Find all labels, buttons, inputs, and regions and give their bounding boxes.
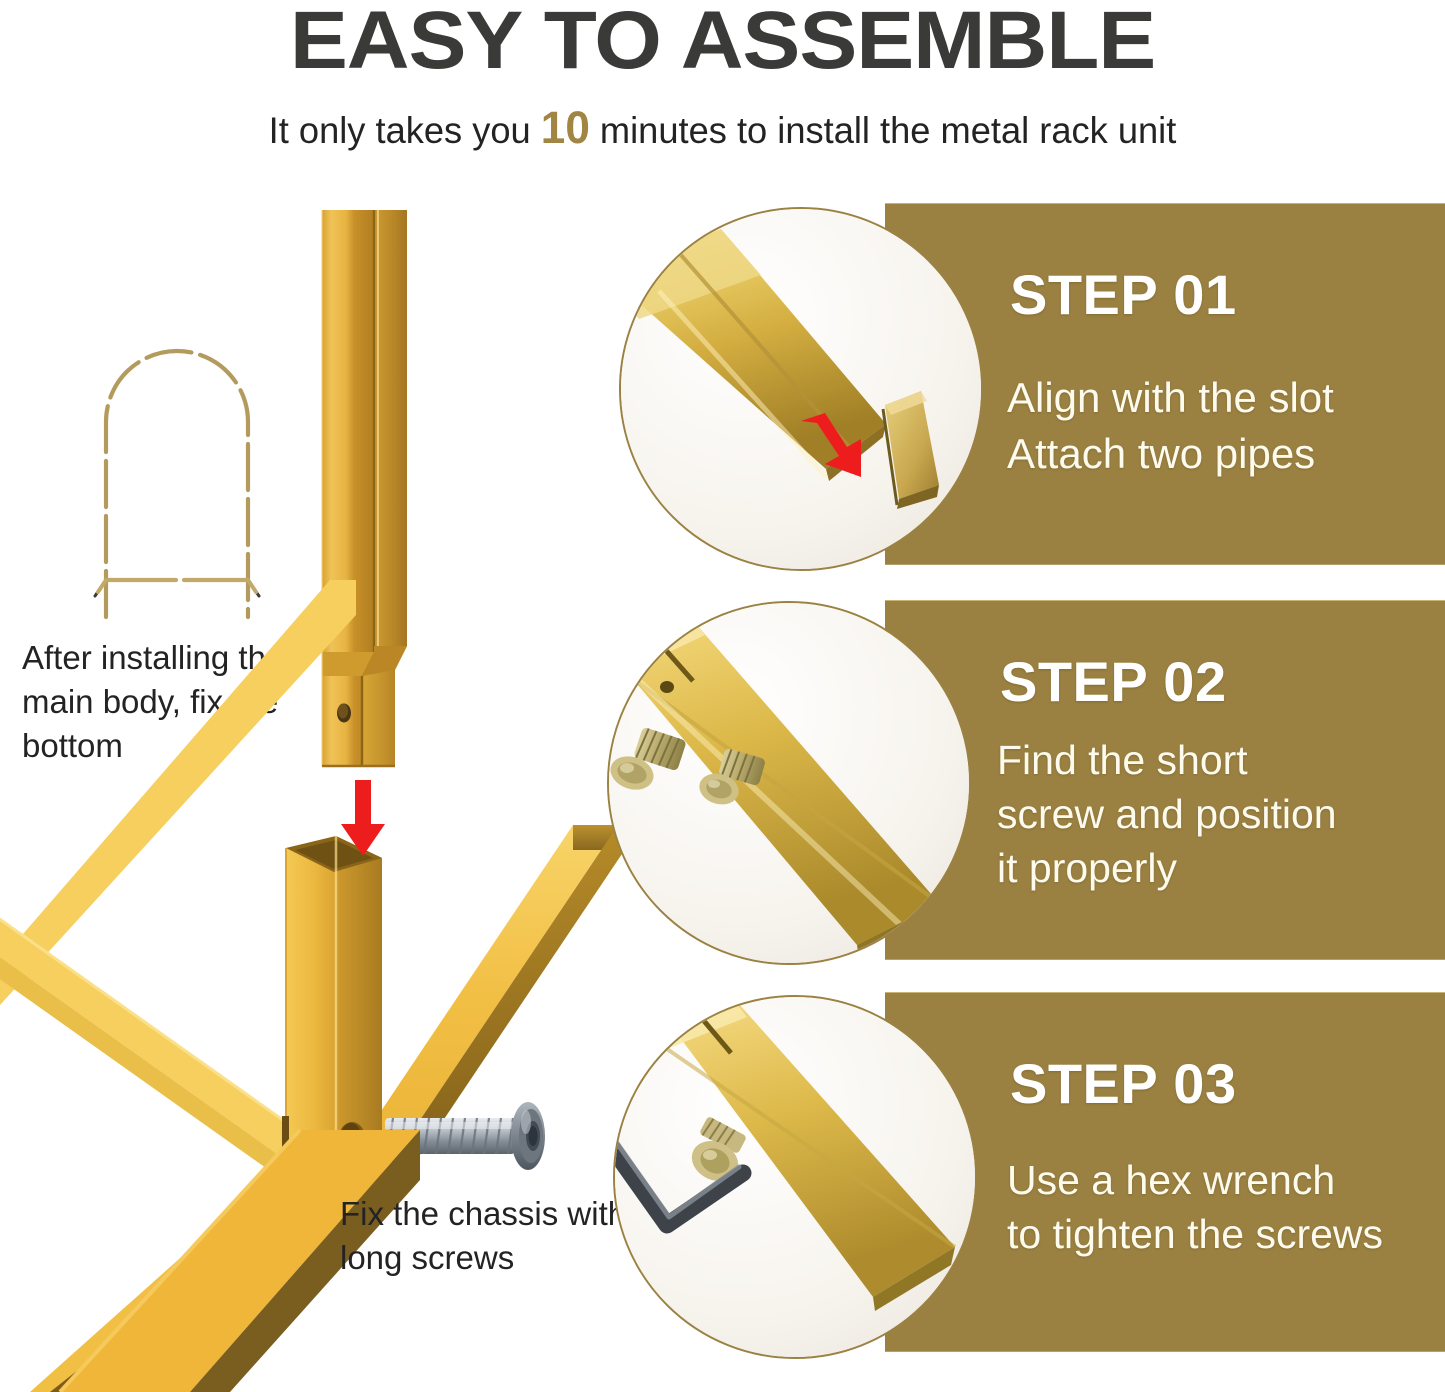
step-1-title: STEP 01 [1010,266,1237,324]
hex-wrench-tightening-screw-photo [615,997,975,1357]
step-1-description: Align with the slot Attach two pipes [1007,370,1334,482]
step-3-line-1: Use a hex wrench [1007,1153,1383,1207]
subtitle-text-after: minutes to install the metal rack unit [590,110,1176,151]
caption-fix-the-chassis: Fix the chassis with long screws [340,1192,630,1280]
step-3-description: Use a hex wrench to tighten the screws [1007,1153,1383,1261]
step-3-line-2: to tighten the screws [1007,1207,1383,1261]
short-screw-a [607,727,687,795]
page-title: EASY TO ASSEMBLE [0,0,1445,84]
step-2-line-2: screw and position [997,787,1337,841]
step-1-photo-bubble [619,207,983,571]
step-2-title: STEP 02 [1000,653,1227,711]
gold-bar-with-two-short-screws-photo [609,603,969,963]
infographic-root: EASY TO ASSEMBLE It only takes you 10 mi… [0,0,1445,1392]
subtitle-minutes-value: 10 [541,102,590,153]
step-2-line-1: Find the short [997,733,1337,787]
step-3-photo-bubble [613,995,977,1359]
step-2-line-3: it properly [997,841,1337,895]
arch-frame-outline [62,312,292,622]
subtitle-text-before: It only takes you [269,110,541,151]
red-arrow-down-insert-icon [333,780,393,860]
step-3-title: STEP 03 [1010,1055,1237,1113]
step-2-description: Find the short screw and position it pro… [997,733,1337,895]
step-1-line-1: Align with the slot [1007,370,1334,426]
step-2-photo-bubble [607,601,971,965]
pipe-end-aligning-with-slot-photo [621,209,981,569]
page-subtitle: It only takes you 10 minutes to install … [14,104,1430,155]
step-1-line-2: Attach two pipes [1007,426,1334,482]
